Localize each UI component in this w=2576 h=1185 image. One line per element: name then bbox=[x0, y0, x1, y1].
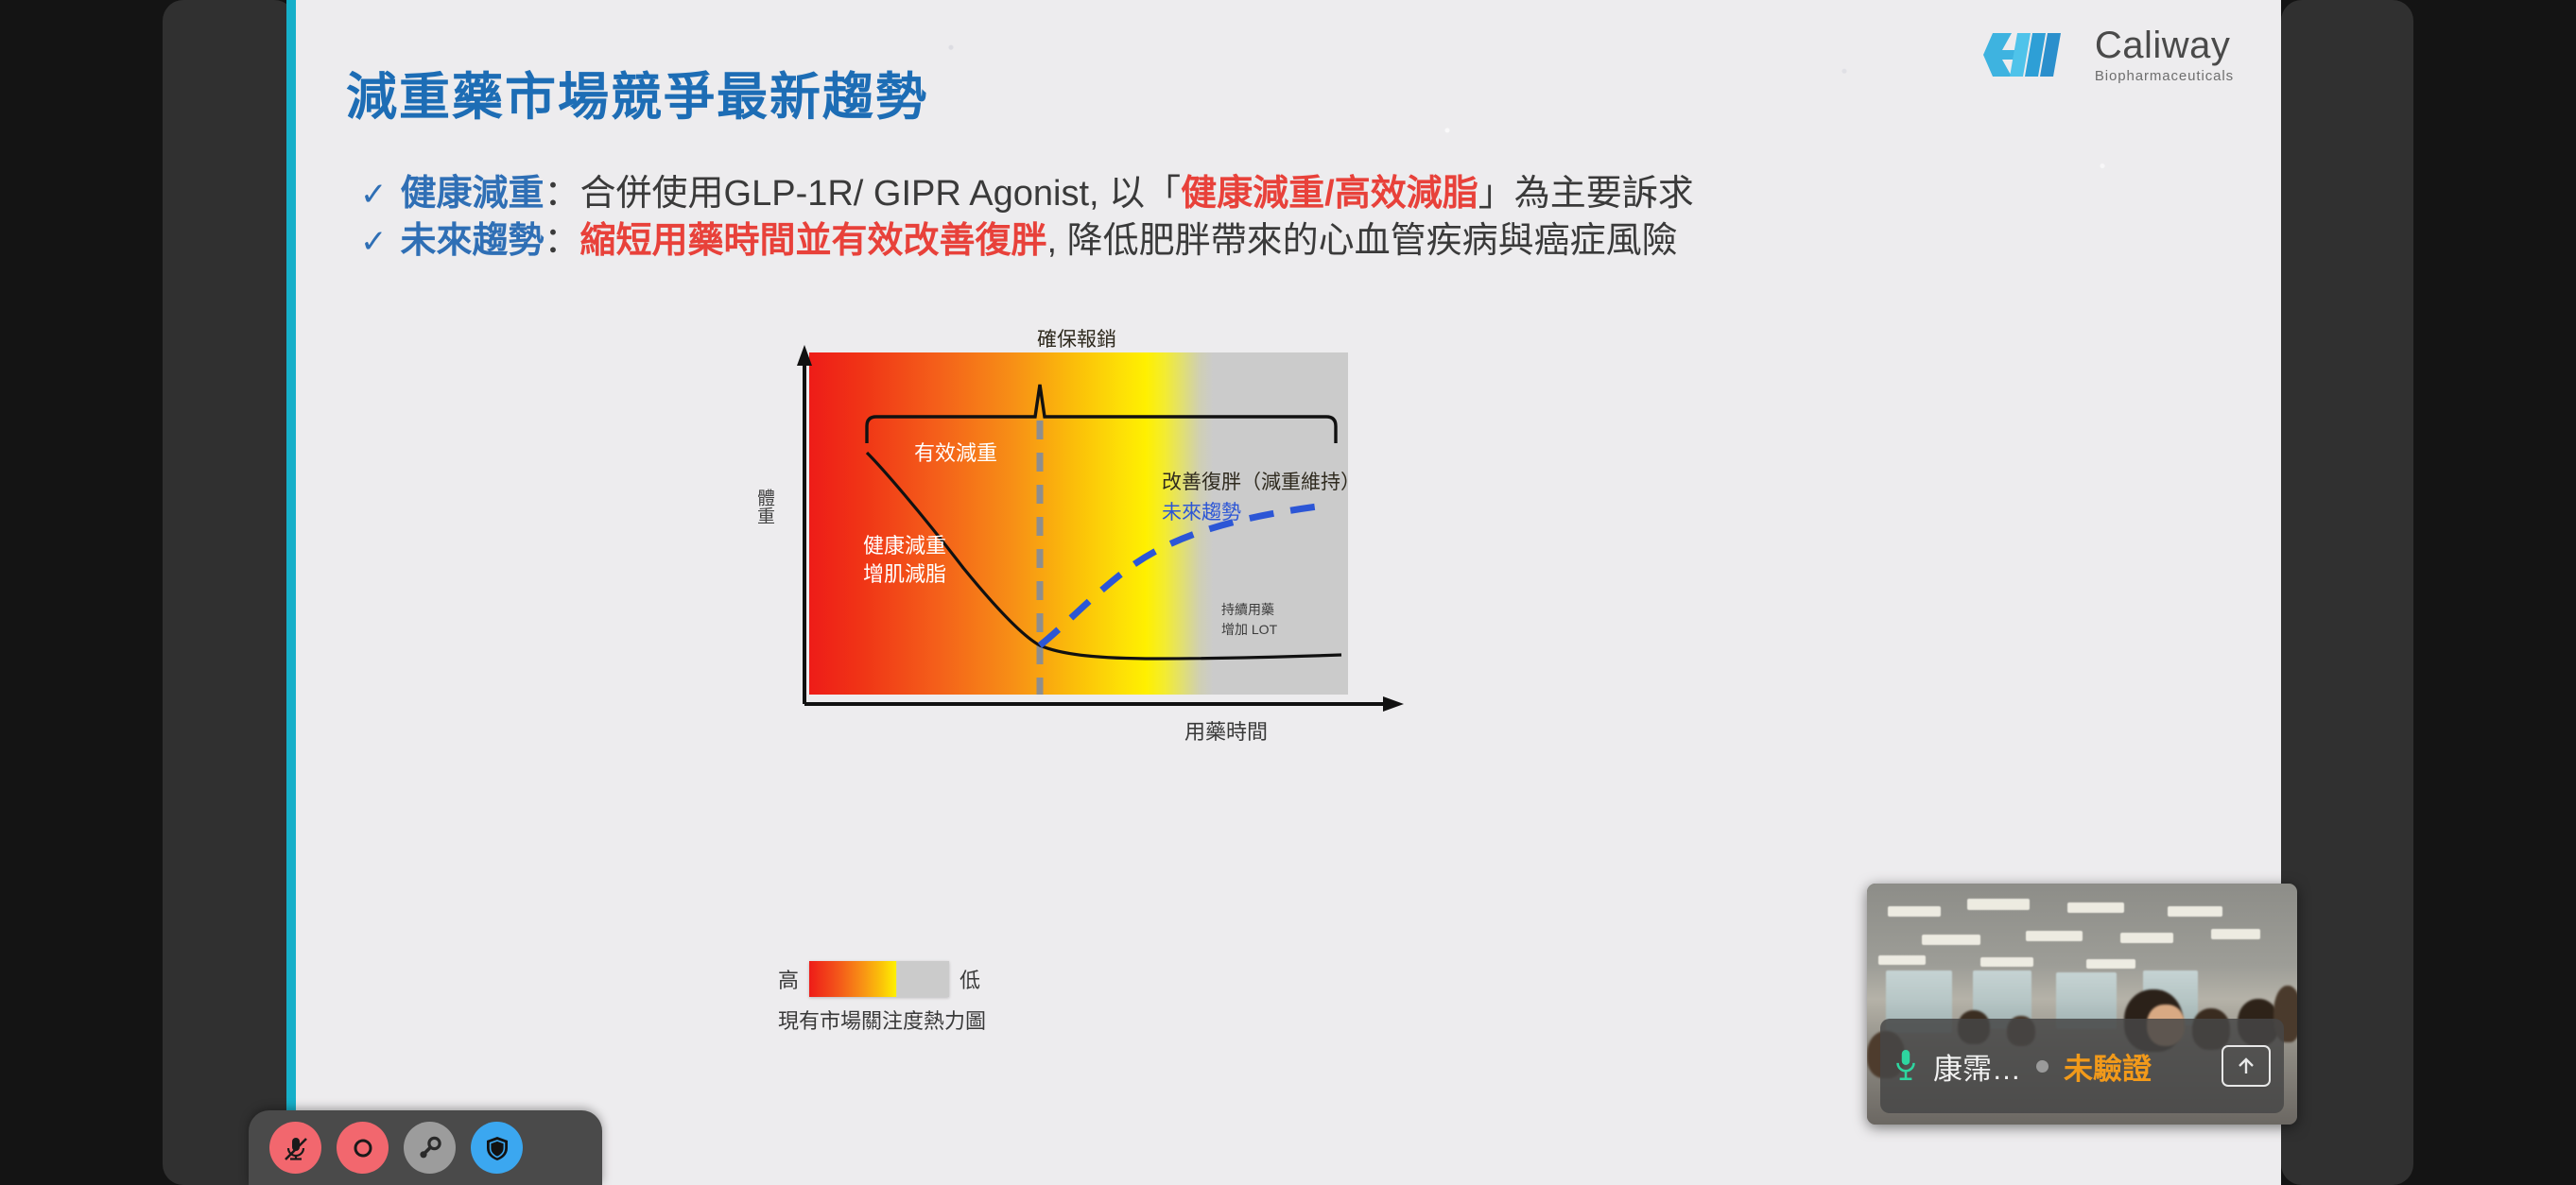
record-circle-icon bbox=[349, 1134, 377, 1162]
bullet-item-1: ✓ 健康減重 ： 合併使用GLP-1R/ GIPR Agonist, 以「 健康… bbox=[360, 173, 2213, 215]
record-button[interactable] bbox=[337, 1122, 389, 1174]
legend-high-label: 高 bbox=[778, 964, 799, 994]
annotation-effective-weight-loss: 有效減重 bbox=[914, 437, 997, 467]
annotation-rebound-improve: 改善復胖（減重維持） bbox=[1162, 467, 1360, 495]
company-logo: Caliway Biopharmaceuticals bbox=[1983, 26, 2234, 83]
cw-logo-icon bbox=[1983, 29, 2082, 80]
bullet-item-2: ✓ 未來趨勢 ： 縮短用藥時間並有效改善復胖 , 降低肥胖帶來的心血管疾病與癌症… bbox=[360, 220, 2213, 262]
y-axis bbox=[797, 345, 812, 704]
annotation-future-trend: 未來趨勢 bbox=[1162, 497, 1241, 525]
legend-gradient-bar bbox=[809, 961, 949, 997]
legend-low-label: 低 bbox=[960, 964, 980, 994]
logo-subtitle: Biopharmaceuticals bbox=[2095, 69, 2234, 83]
bullet-2-colon: ： bbox=[545, 220, 580, 262]
microphone-icon bbox=[1893, 1049, 1918, 1083]
accent-bar bbox=[286, 0, 296, 1185]
bullet-list: ✓ 健康減重 ： 合併使用GLP-1R/ GIPR Agonist, 以「 健康… bbox=[360, 173, 2213, 267]
key-button[interactable] bbox=[404, 1122, 456, 1174]
annotation-healthy-loss-line1: 健康減重 bbox=[863, 532, 946, 560]
call-toolbar bbox=[249, 1110, 602, 1185]
bullet-2-seg-2: , 降低肥胖帶來的心血管疾病與癌症風險 bbox=[1047, 220, 1678, 262]
weight-trend-chart: 體重 用藥時間 確保報銷 有效減重 健康減重 增肌減脂 改善復胖（減重維持） 未… bbox=[778, 326, 1742, 780]
expand-video-button[interactable] bbox=[2222, 1045, 2271, 1087]
coverage-bracket bbox=[867, 385, 1336, 443]
shield-icon bbox=[483, 1134, 511, 1162]
window-shell-right bbox=[2281, 0, 2413, 1185]
check-icon: ✓ bbox=[360, 177, 388, 214]
bullet-1-colon: ： bbox=[545, 173, 580, 215]
annotation-continued-dosing-line1: 持續用藥 bbox=[1221, 600, 1277, 620]
screen: Caliway Biopharmaceuticals 減重藥市場競爭最新趨勢 ✓… bbox=[0, 0, 2576, 1185]
verification-status-badge: 未驗證 bbox=[2064, 1045, 2152, 1088]
heatmap-legend: 高 低 現有市場關注度熱力圖 bbox=[778, 961, 986, 1035]
check-icon: ✓ bbox=[360, 224, 388, 261]
bullet-1-seg-3: 」為主要訴求 bbox=[1478, 173, 1694, 215]
shield-button[interactable] bbox=[471, 1122, 523, 1174]
window-shell-left bbox=[163, 0, 295, 1185]
annotation-increase-lot-line2: 增加 LOT bbox=[1221, 620, 1277, 640]
logo-name: Caliway bbox=[2095, 26, 2234, 64]
mic-muted-button[interactable] bbox=[269, 1122, 321, 1174]
bullet-1-label: 健康減重 bbox=[401, 173, 545, 215]
bullet-1-seg-1: 合併使用GLP-1R/ GIPR Agonist, 以「 bbox=[580, 173, 1182, 215]
separator-dot bbox=[2036, 1060, 2049, 1073]
annotation-continued-dosing: 持續用藥 增加 LOT bbox=[1221, 600, 1277, 640]
annotation-bracket-label: 確保報銷 bbox=[1037, 324, 1116, 352]
participant-name: 康霈… bbox=[1933, 1045, 2021, 1088]
y-axis-label: 體重 bbox=[752, 489, 777, 524]
slide-title: 減重藥市場競爭最新趨勢 bbox=[346, 55, 928, 129]
bullet-2-label: 未來趨勢 bbox=[401, 220, 545, 262]
bullet-1-seg-2: 健康減重/高效減脂 bbox=[1181, 173, 1478, 215]
annotation-healthy-loss: 健康減重 增肌減脂 bbox=[863, 532, 946, 588]
x-axis bbox=[804, 696, 1404, 712]
bullet-2-seg-1: 縮短用藥時間並有效改善復胖 bbox=[580, 220, 1047, 262]
microphone-muted-icon bbox=[282, 1134, 310, 1162]
x-axis-label: 用藥時間 bbox=[1184, 715, 1268, 746]
arrow-up-box-icon bbox=[2236, 1056, 2256, 1076]
participant-video-tile[interactable]: 康霈… 未驗證 bbox=[1867, 884, 2297, 1125]
heatmap-legend-scale: 高 低 bbox=[778, 961, 986, 997]
annotation-muscle-gain-line2: 增肌減脂 bbox=[863, 560, 946, 589]
legend-caption: 現有市場關注度熱力圖 bbox=[778, 1005, 986, 1035]
video-tile-infobar: 康霈… 未驗證 bbox=[1880, 1019, 2284, 1113]
future-trend-curve bbox=[1040, 506, 1324, 645]
key-icon bbox=[416, 1134, 444, 1162]
